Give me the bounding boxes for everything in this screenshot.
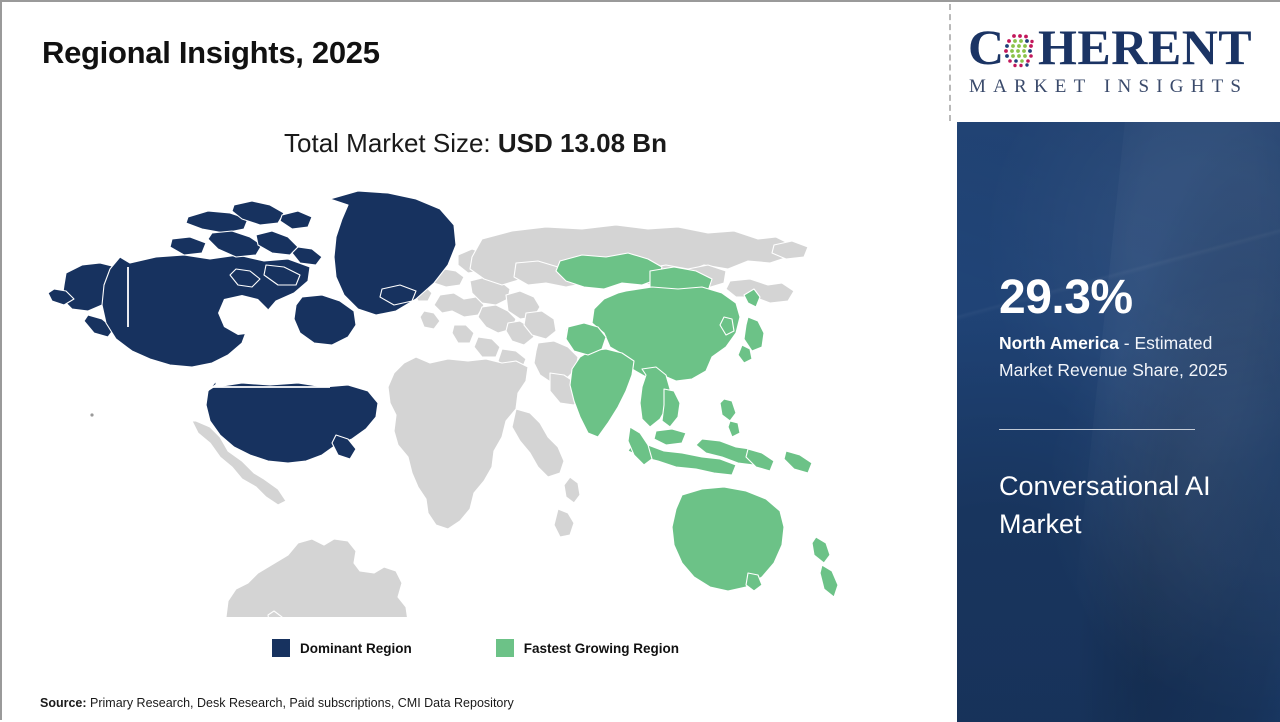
share-percent: 29.3% [999,274,1133,322]
panel-divider-rule [999,429,1195,430]
globe-dots-icon [1001,32,1037,68]
map-legend: Dominant Region Fastest Growing Region [2,639,949,657]
share-caption: North America - Estimated Market Revenue… [999,330,1267,383]
legend-label-fastest-growing: Fastest Growing Region [524,641,679,656]
total-market-size-value: USD 13.08 Bn [498,128,667,158]
legend-label-dominant: Dominant Region [300,641,412,656]
map-small-island-dot [90,413,93,416]
legend-item-dominant: Dominant Region [272,639,412,657]
left-panel: Regional Insights, 2025 Total Market Siz… [2,2,949,720]
map-region-asia-pacific [556,253,838,597]
world-map-container [30,177,910,617]
right-stat-panel: 29.3% North America - Estimated Market R… [957,122,1280,722]
map-region-south-america [226,539,408,617]
share-region-name: North America [999,333,1119,353]
market-name: Conversational AI Market [999,467,1264,544]
panel-content: 29.3% North America - Estimated Market R… [999,122,1269,722]
logo-subtitle: MARKET INSIGHTS [969,76,1248,98]
coherent-market-insights-logo: C [968,24,1268,102]
source-text: Primary Research, Desk Research, Paid su… [87,696,514,710]
page-title: Regional Insights, 2025 [42,35,380,71]
world-map [30,177,910,617]
total-market-size: Total Market Size: USD 13.08 Bn [2,128,949,159]
logo-letter-c: C [968,22,1004,72]
source-line: Source: Primary Research, Desk Research,… [40,696,514,710]
logo-wordmark: C [968,24,1268,74]
vertical-dashed-divider [949,4,951,121]
infographic-root: Regional Insights, 2025 Total Market Siz… [0,0,1280,720]
logo-letters-herent: HERENT [1038,22,1252,72]
total-market-size-label: Total Market Size: [284,128,498,158]
source-label: Source: [40,696,87,710]
legend-swatch-green-icon [496,639,514,657]
legend-swatch-navy-icon [272,639,290,657]
legend-item-fastest-growing: Fastest Growing Region [496,639,679,657]
